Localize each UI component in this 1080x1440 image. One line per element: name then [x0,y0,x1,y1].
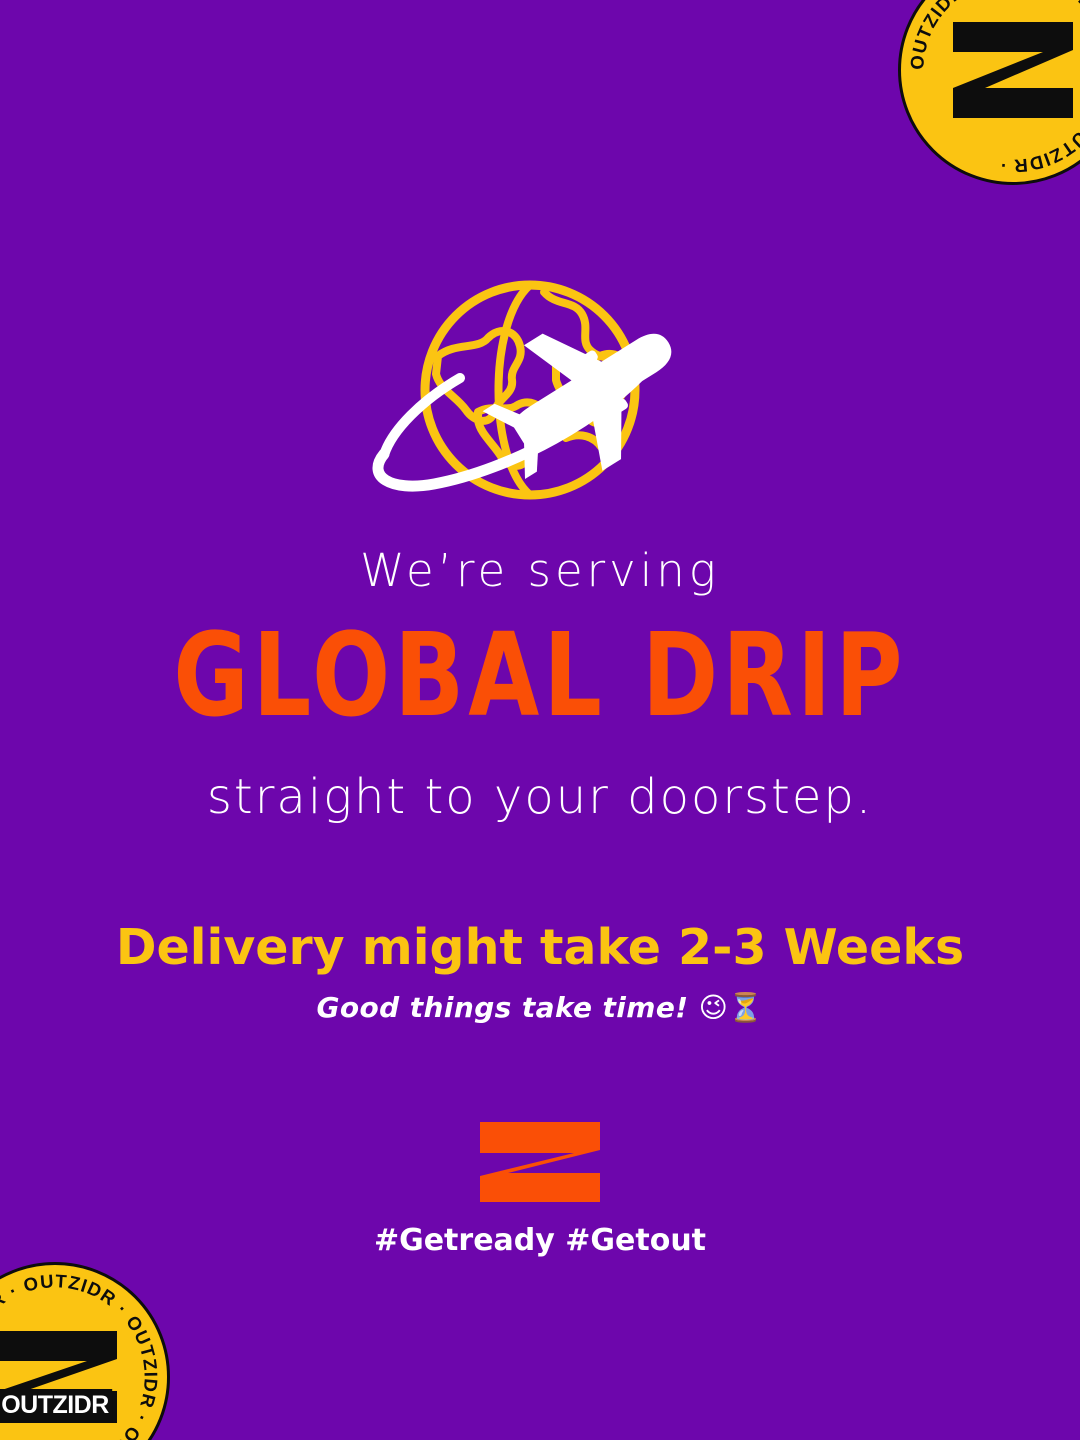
reassurance-text: Good things take time! [317,991,689,1024]
footer-block: #Getready #Getout [0,1120,1080,1256]
outzidr-sticker-badge-bottom-left: OUTZIDR · OUTZIDR · OUTZIDR · OUTZIDR · … [0,1262,170,1440]
hashtag-text: #Getready #Getout [0,1226,1080,1256]
wink-hourglass-emoji: 😉⏳ [699,991,764,1024]
outzidr-z-logo [478,1120,602,1204]
promo-poster: We’re serving GLOBAL DRIP straight to yo… [0,0,1080,1440]
badge-center-mark [947,18,1079,122]
reassurance-line: Good things take time! 😉⏳ [0,994,1080,1022]
badge-center-mark: OUTZIDR [0,1329,119,1425]
outzidr-sticker-badge-top-right: OUTZIDR · OUTZIDR · OUTZIDR · OUTZIDR · [898,0,1080,185]
subhead-text: straight to your doorstep. [0,773,1080,821]
badge-wordmark: OUTZIDR [0,1389,112,1423]
page-title: GLOBAL DRIP [0,619,1080,734]
delivery-notice: Delivery might take 2-3 Weeks [0,923,1080,972]
eyebrow-text: We’re serving [0,548,1080,593]
copy-block: We’re serving GLOBAL DRIP straight to yo… [0,548,1080,1022]
globe-with-airplane-icon [360,270,720,520]
